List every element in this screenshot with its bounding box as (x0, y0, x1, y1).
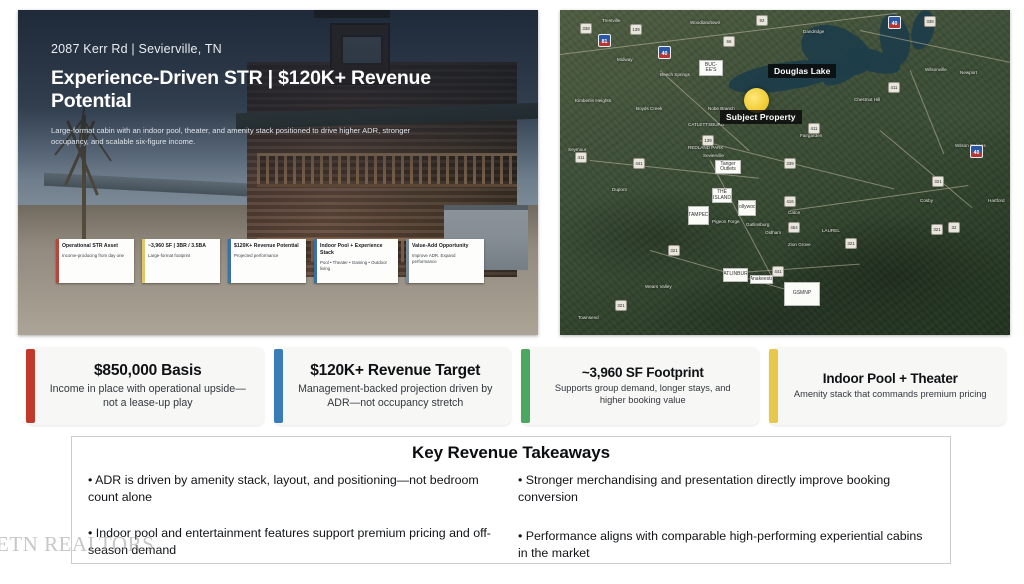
map-place-name: Oldham (765, 230, 781, 235)
takeaway-item: • Performance aligns with comparable hig… (518, 528, 934, 562)
hero-feature-chip: $120K+ Revenue PotentialProjected perfor… (228, 239, 306, 283)
highlight-stat-card[interactable]: Indoor Pool + TheaterAmenity stack that … (769, 347, 1007, 425)
map-place-name: Gatlinsburg (746, 222, 770, 227)
map-place-name: Townsend (578, 315, 599, 320)
takeaway-item: • Indoor pool and entertainment features… (88, 525, 504, 559)
map-place-name: Woodlandtown (690, 20, 720, 25)
hero-feature-chip: ~3,960 SF | 3BR / 3.5BALarge-format foot… (142, 239, 220, 283)
anakeesta-poi[interactable]: Anakeesta (750, 275, 773, 284)
chip-description: Improve ADR. Expand performance (412, 253, 479, 265)
hero-headline: Experience-Driven STR | $120K+ Revenue P… (51, 67, 498, 113)
map-callout-label: Douglas Lake (768, 64, 836, 78)
map-place-name: Dupont (612, 187, 627, 192)
chip-accent-bar (142, 239, 145, 283)
highway-shield-icon: 66 (723, 36, 735, 47)
map-callout-label: Subject Property (720, 110, 802, 124)
chip-title: Operational STR Asset (62, 243, 129, 250)
takeaways-columns: • ADR is driven by amenity stack, layout… (88, 472, 934, 584)
map-place-name: Sevierville (703, 153, 724, 158)
chip-title: $120K+ Revenue Potential (234, 243, 301, 250)
interstate-shield-icon: 81 (598, 34, 611, 47)
stat-accent-bar (521, 349, 530, 423)
map-place-name: Caton (788, 210, 800, 215)
highway-shield-icon: 441 (633, 158, 645, 169)
highlight-stat-card[interactable]: ~3,960 SF FootprintSupports group demand… (521, 347, 759, 425)
stat-title: $850,000 Basis (94, 362, 202, 380)
stat-title: ~3,960 SF Footprint (582, 365, 704, 380)
highway-shield-icon: 441 (772, 266, 784, 277)
chip-accent-bar (314, 239, 317, 283)
takeaways-column-right: • Stronger merchandising and presentatio… (518, 472, 934, 584)
map-place-name: Chestnut Hill (854, 97, 880, 102)
interstate-shield-icon: 40 (658, 46, 671, 59)
chip-accent-bar (56, 239, 59, 283)
hero-feature-chip: Operational STR AssetIncome-producing fr… (56, 239, 134, 283)
stat-accent-bar (26, 349, 35, 423)
chip-description: Projected performance (234, 253, 301, 259)
map-place-name: Zion Grove (788, 242, 811, 247)
map-place-name: Trentville (602, 18, 620, 23)
map-place-name: Newport (960, 70, 977, 75)
stat-description: Amenity stack that commands premium pric… (794, 389, 987, 401)
the-island-poi[interactable]: THE ISLAND (712, 188, 732, 203)
interstate-shield-icon: 40 (970, 145, 983, 158)
stat-description: Management-backed projection driven by A… (294, 383, 498, 410)
key-takeaways-panel: Key Revenue Takeaways • ADR is driven by… (71, 436, 951, 564)
highlight-stat-cards: $850,000 BasisIncome in place with opera… (26, 347, 1006, 425)
map-place-name: Kimberlin Heights (575, 98, 611, 103)
highway-shield-icon: 338 (580, 23, 592, 34)
chip-title: ~3,960 SF | 3BR / 3.5BA (148, 243, 215, 250)
dolly-stampede-poi[interactable]: STAMPEDE (688, 206, 709, 225)
highway-shield-icon: 321 (931, 224, 943, 235)
map-place-name: Wilsonville (925, 67, 947, 72)
map-place-name: Beech Springs (660, 72, 690, 77)
hero-text-block: 2087 Kerr Rd | Sevierville, TN Experienc… (51, 42, 498, 147)
smokies-park-poi[interactable]: GSMNP (784, 282, 820, 306)
hero-feature-chips: Operational STR AssetIncome-producing fr… (56, 239, 484, 283)
takeaway-item: • ADR is driven by amenity stack, layout… (88, 472, 504, 506)
map-place-name: Dandridge (803, 29, 824, 34)
map-place-name: LAUREL (822, 228, 840, 233)
highlight-stat-card[interactable]: $850,000 BasisIncome in place with opera… (26, 347, 264, 425)
highway-shield-icon: 321 (932, 176, 944, 187)
map-place-name: Cosby (920, 198, 933, 203)
stat-description: Supports group demand, longer stays, and… (541, 383, 745, 407)
chip-description: Pool • Theater • Gaming • Outdoor living (320, 260, 393, 272)
buc-ees-poi[interactable]: BUC-EE'S (699, 60, 723, 76)
map-place-name: Midway (617, 57, 633, 62)
highway-shield-icon: 339 (784, 158, 796, 169)
chip-description: Large-format footprint (148, 253, 215, 259)
dollywood-poi[interactable]: Dollywood (738, 200, 756, 216)
map-place-name: Boyds Creek (636, 106, 662, 111)
highway-shield-icon: 321 (668, 245, 680, 256)
highway-shield-icon: 338 (924, 16, 936, 27)
hero-subheadline: Large-format cabin with an indoor pool, … (51, 125, 446, 147)
chip-title: Indoor Pool + Experience Stack (320, 243, 393, 257)
top-row: 2087 Kerr Rd | Sevierville, TN Experienc… (0, 0, 1024, 340)
hero-listing-image[interactable]: 2087 Kerr Rd | Sevierville, TN Experienc… (18, 10, 538, 335)
stat-description: Income in place with operational upside—… (46, 383, 250, 410)
highlight-stat-card[interactable]: $120K+ Revenue TargetManagement-backed p… (274, 347, 512, 425)
takeaways-title: Key Revenue Takeaways (88, 443, 934, 463)
stat-title: $120K+ Revenue Target (310, 362, 480, 380)
takeaways-column-left: • ADR is driven by amenity stack, layout… (88, 472, 504, 584)
property-address: 2087 Kerr Rd | Sevierville, TN (51, 42, 498, 56)
chip-accent-bar (228, 239, 231, 283)
stat-title: Indoor Pool + Theater (823, 371, 958, 386)
takeaway-item: • Stronger merchandising and presentatio… (518, 472, 934, 506)
chip-title: Value-Add Opportunity (412, 243, 479, 250)
highway-shield-icon: 32 (948, 222, 960, 233)
highway-shield-icon: 321 (615, 300, 627, 311)
highway-shield-icon: 321 (845, 238, 857, 249)
map-place-name: Hartford (988, 198, 1005, 203)
highway-shield-icon: 411 (808, 123, 820, 134)
stat-accent-bar (274, 349, 283, 423)
highway-shield-icon: 92 (756, 15, 768, 26)
map-place-name: Pigeon Forge (712, 219, 740, 224)
interstate-shield-icon: 40 (888, 16, 901, 29)
chip-accent-bar (406, 239, 409, 283)
highway-shield-icon: 411 (888, 82, 900, 93)
highway-shield-icon: 411 (575, 152, 587, 163)
highway-shield-icon: 139 (630, 24, 642, 35)
map-place-name: Wears Valley (645, 284, 672, 289)
stat-accent-bar (769, 349, 778, 423)
map-place-name: CATLETTSBURG (688, 122, 724, 127)
highway-shield-icon: 454 (788, 222, 800, 233)
location-map[interactable]: TrentvilleWoodlandtownDandridgeMidwayBee… (560, 10, 1010, 335)
tanger-outlets-poi[interactable]: Tanger Outlets (715, 160, 741, 174)
highway-shield-icon: 416 (784, 196, 796, 207)
chip-description: Income-producing from day one (62, 253, 129, 259)
gatlinburg-attraction-poi[interactable]: GATLINBURG (723, 268, 748, 282)
highway-shield-icon: 139 (702, 135, 714, 146)
hero-feature-chip: Indoor Pool + Experience StackPool • The… (314, 239, 398, 283)
hero-feature-chip: Value-Add OpportunityImprove ADR. Expand… (406, 239, 484, 283)
